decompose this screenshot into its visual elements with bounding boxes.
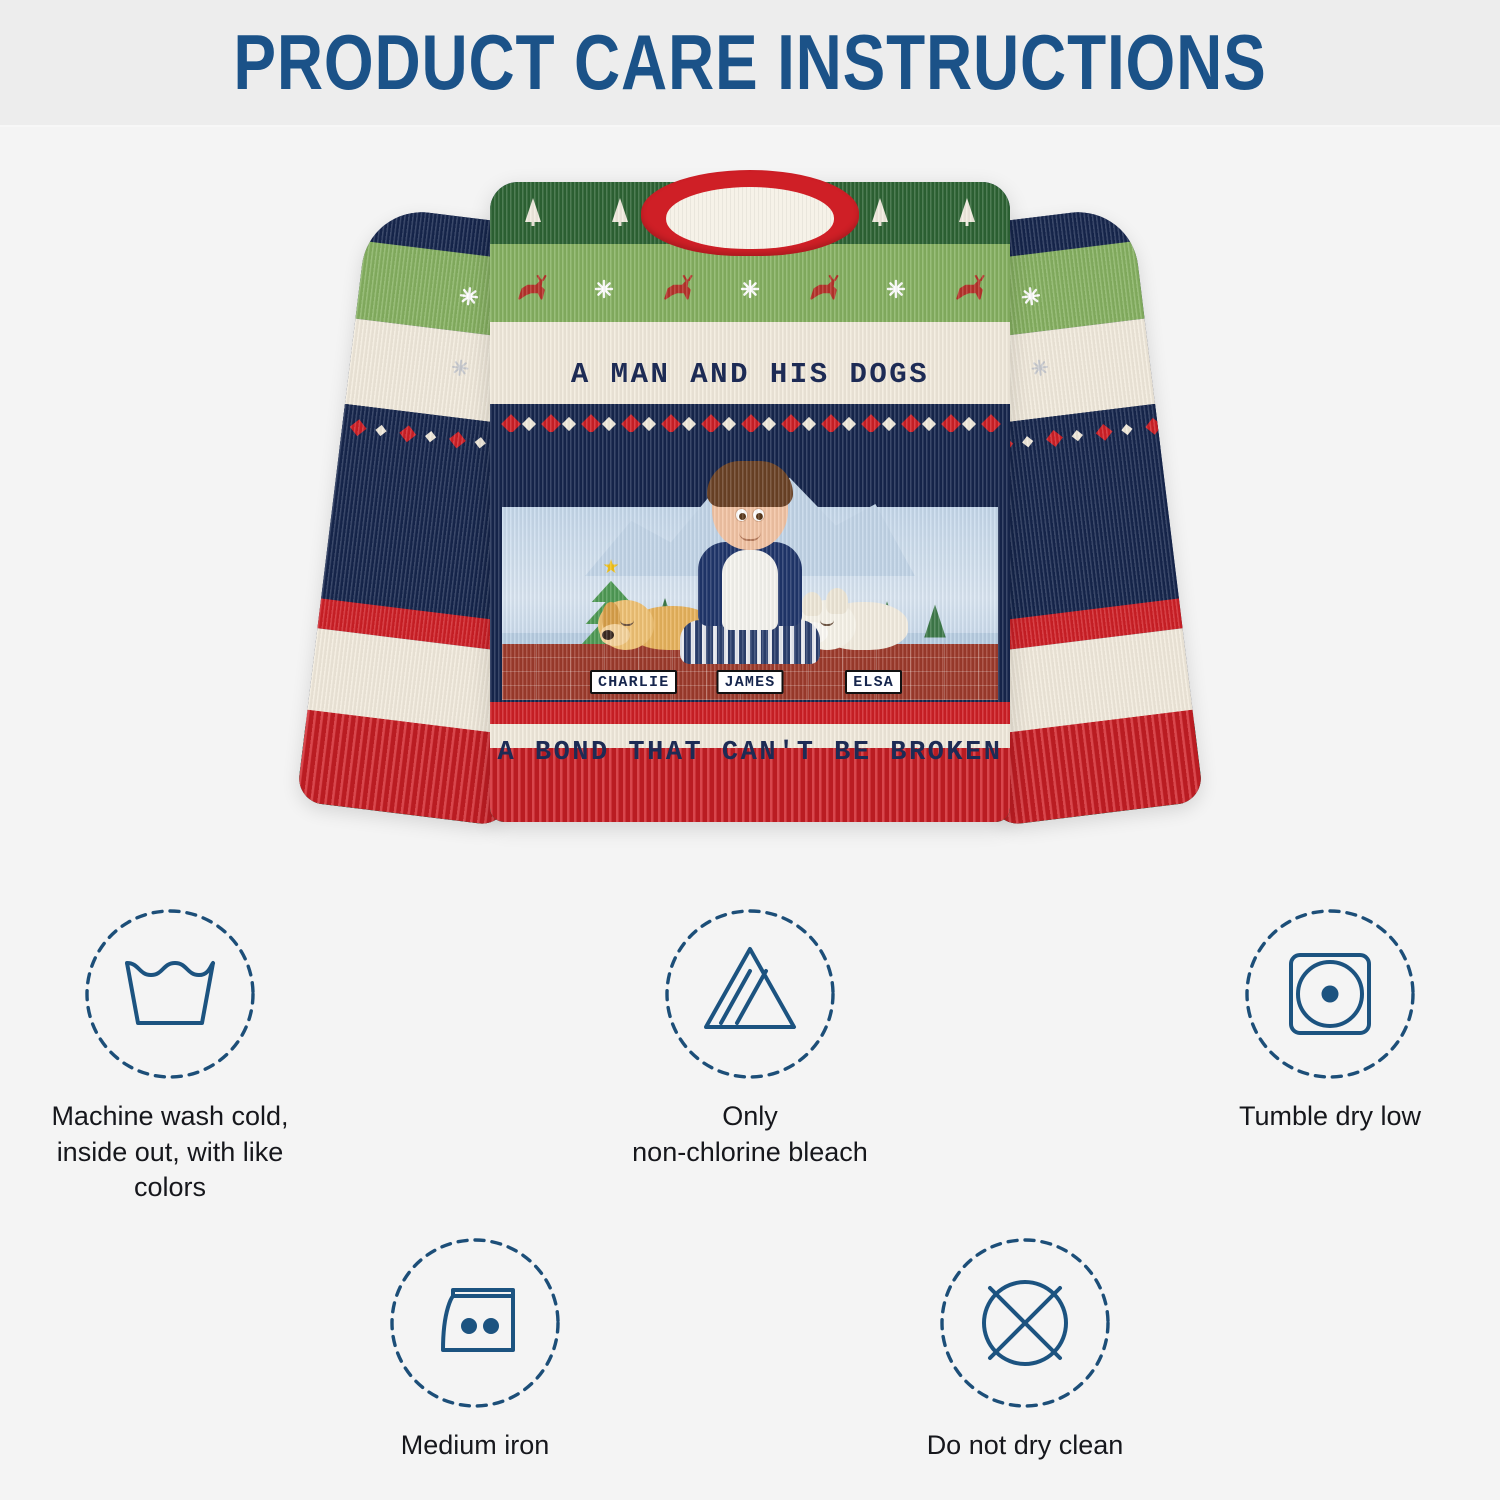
snowflake-icon bbox=[458, 285, 480, 307]
nametag-james: JAMES bbox=[716, 670, 783, 694]
eye-left bbox=[752, 508, 765, 522]
snowflake-icon bbox=[594, 279, 614, 299]
pine-tree-icon bbox=[924, 604, 946, 637]
nametag-elsa: ELSA bbox=[845, 670, 902, 694]
care-row-1: Machine wash cold, inside out, with like… bbox=[0, 905, 1500, 1206]
reindeer-icon bbox=[296, 258, 311, 292]
person-james-illustration bbox=[675, 468, 825, 664]
page-title: PRODUCT CARE INSTRUCTIONS bbox=[233, 17, 1266, 108]
care-item-iron: Medium iron bbox=[325, 1234, 625, 1464]
care-item-dry-clean: Do not dry clean bbox=[875, 1234, 1175, 1464]
tumble-dry-low-icon bbox=[1241, 905, 1419, 1083]
sweater-graphic-scene: ★ bbox=[502, 432, 998, 700]
care-item-machine-wash: Machine wash cold, inside out, with like… bbox=[20, 905, 320, 1206]
snowflake-icon bbox=[740, 279, 760, 299]
reindeer-icon bbox=[805, 273, 841, 305]
snowflake-icon bbox=[1030, 358, 1050, 378]
pine-tree-icon bbox=[869, 196, 891, 226]
reindeer-icon bbox=[513, 273, 549, 305]
care-label-dry-clean: Do not dry clean bbox=[927, 1428, 1124, 1464]
care-item-bleach: Only non-chlorine bleach bbox=[600, 905, 900, 1170]
care-instructions-section: Machine wash cold, inside out, with like… bbox=[0, 897, 1500, 1464]
non-chlorine-bleach-icon bbox=[661, 905, 839, 1083]
snowflake-icon bbox=[1020, 285, 1042, 307]
reindeer-icon bbox=[659, 273, 695, 305]
do-not-dry-clean-icon bbox=[936, 1234, 1114, 1412]
hair bbox=[707, 461, 793, 507]
care-label-machine-wash: Machine wash cold, inside out, with like… bbox=[20, 1099, 320, 1206]
nametag-charlie: CHARLIE bbox=[590, 670, 677, 694]
snowflake-icon bbox=[450, 358, 470, 378]
sweater-collar bbox=[641, 170, 859, 256]
page-header: PRODUCT CARE INSTRUCTIONS bbox=[0, 0, 1500, 127]
raglan-shirt bbox=[698, 542, 802, 626]
snowflake-icon bbox=[886, 279, 906, 299]
pine-tree-icon bbox=[956, 196, 978, 226]
sweater-bottom-slogan: A BOND THAT CAN'T BE BROKEN bbox=[490, 738, 1010, 768]
sweater-product-image: ★ bbox=[340, 162, 1160, 862]
mouth bbox=[739, 532, 761, 541]
pine-tree-icon bbox=[522, 196, 544, 226]
care-item-tumble-dry: Tumble dry low bbox=[1180, 905, 1480, 1135]
tree-star-icon: ★ bbox=[602, 558, 619, 577]
care-row-2: Medium iron Do not dry clean bbox=[0, 1234, 1500, 1464]
sweater-body: ★ bbox=[490, 182, 1010, 822]
machine-wash-icon bbox=[81, 905, 259, 1083]
care-label-bleach: Only non-chlorine bleach bbox=[632, 1099, 868, 1170]
sweater-top-slogan: A MAN AND HIS DOGS bbox=[490, 358, 1010, 391]
eye-right bbox=[735, 508, 748, 522]
care-label-iron: Medium iron bbox=[401, 1428, 550, 1464]
reindeer-icon bbox=[1189, 258, 1204, 292]
product-image-area: ★ bbox=[0, 127, 1500, 897]
medium-iron-icon bbox=[386, 1234, 564, 1412]
pine-tree-icon bbox=[609, 196, 631, 226]
care-label-tumble-dry: Tumble dry low bbox=[1239, 1099, 1421, 1135]
reindeer-icon bbox=[951, 273, 987, 305]
